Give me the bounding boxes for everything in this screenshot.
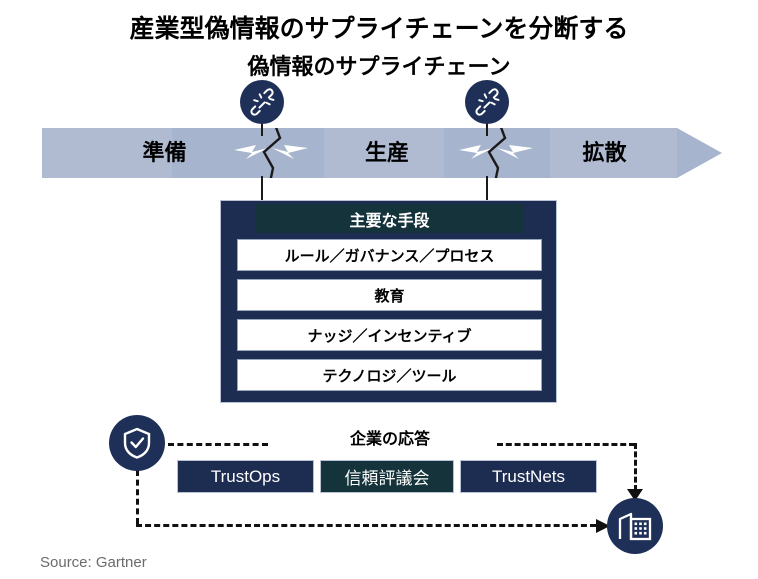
dashed-line-shield-to-label [168,443,268,446]
supply-chain-band: 準備 生産 拡散 [42,128,722,178]
dashed-line-label-to-right [497,443,635,446]
broken-link-icon-right[interactable] [465,80,509,124]
lever-row-education[interactable]: 教育 [237,279,542,311]
connector-line-right-upper [486,122,488,136]
connector-line-left-lower [261,176,263,202]
page-subtitle: 偽情報のサプライチェーン [0,49,758,81]
key-levers-header: 主要な手段 [256,204,523,233]
broken-link-icon-left[interactable] [240,80,284,124]
response-box-trustnets[interactable]: TrustNets [460,460,597,493]
dashed-line-bottom-to-building [136,524,596,527]
connector-line-right-lower [486,176,488,202]
stage-label-produce: 生産 [287,139,487,167]
dashed-line-right-drop [634,443,637,491]
enterprise-building-icon[interactable] [607,498,663,554]
lever-row-rules[interactable]: ルール／ガバナンス／プロセス [237,239,542,271]
slide-canvas: 産業型偽情報のサプライチェーンを分断する 偽情報のサプライチェーン 準備 生産 … [0,0,758,579]
lever-row-technology[interactable]: テクノロジ／ツール [237,359,542,391]
enterprise-response-label: 企業の応答 [300,425,480,449]
response-box-trustops[interactable]: TrustOps [177,460,314,493]
response-box-trust-council[interactable]: 信頼評議会 [320,460,454,493]
page-title: 産業型偽情報のサプライチェーンを分断する [0,9,758,45]
key-levers-panel: 主要な手段 ルール／ガバナンス／プロセス 教育 ナッジ／インセンティブ テクノロ… [220,200,557,403]
source-note: Source: Gartner [40,554,147,571]
stage-label-prepare: 準備 [42,139,287,167]
connector-line-left-upper [261,122,263,136]
shield-check-icon[interactable] [109,415,165,471]
key-levers-list: ルール／ガバナンス／プロセス 教育 ナッジ／インセンティブ テクノロジ／ツール [237,239,542,391]
lever-row-nudge[interactable]: ナッジ／インセンティブ [237,319,542,351]
stage-label-spread: 拡散 [487,139,722,167]
dashed-line-left-drop [136,470,139,524]
